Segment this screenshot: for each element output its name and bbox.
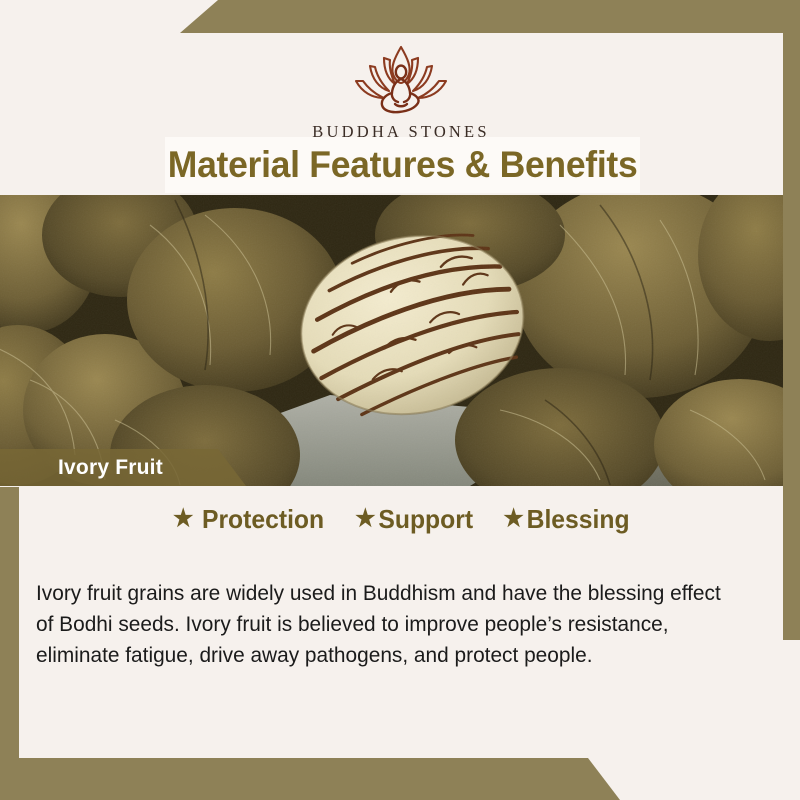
hero-photo	[0, 195, 783, 486]
decor-right-bar	[783, 0, 800, 640]
star-icon: ★	[504, 507, 524, 531]
decor-bottom-bar	[0, 758, 620, 800]
benefits-row: ★ Protection ★ Support ★ Blessing	[19, 494, 783, 544]
decor-left-bar	[0, 487, 19, 800]
page-title-band: Material Features & Benefits	[165, 137, 640, 193]
brand-logo: BUDDHA STONES	[312, 41, 489, 142]
infographic-page: BUDDHA STONES Material Features & Benefi…	[0, 0, 800, 800]
description-text: Ivory fruit grains are widely used in Bu…	[36, 578, 727, 671]
decor-top-bar	[180, 0, 800, 33]
benefit-label: Protection	[202, 504, 324, 535]
photo-caption-banner: Ivory Fruit	[0, 449, 246, 486]
benefit-label: Blessing	[527, 504, 630, 535]
star-icon: ★	[173, 507, 193, 531]
benefit-label: Support	[378, 504, 473, 535]
benefit-item-blessing: ★ Blessing	[504, 504, 630, 535]
benefit-item-protection: ★ Protection	[173, 504, 324, 535]
benefit-item-support: ★ Support	[355, 504, 473, 535]
lotus-meditation-logo-icon	[341, 41, 461, 121]
star-icon: ★	[355, 507, 375, 531]
ivory-fruit-photo-illustration	[0, 195, 783, 486]
photo-caption-label: Ivory Fruit	[58, 456, 163, 480]
page-title: Material Features & Benefits	[168, 144, 638, 186]
